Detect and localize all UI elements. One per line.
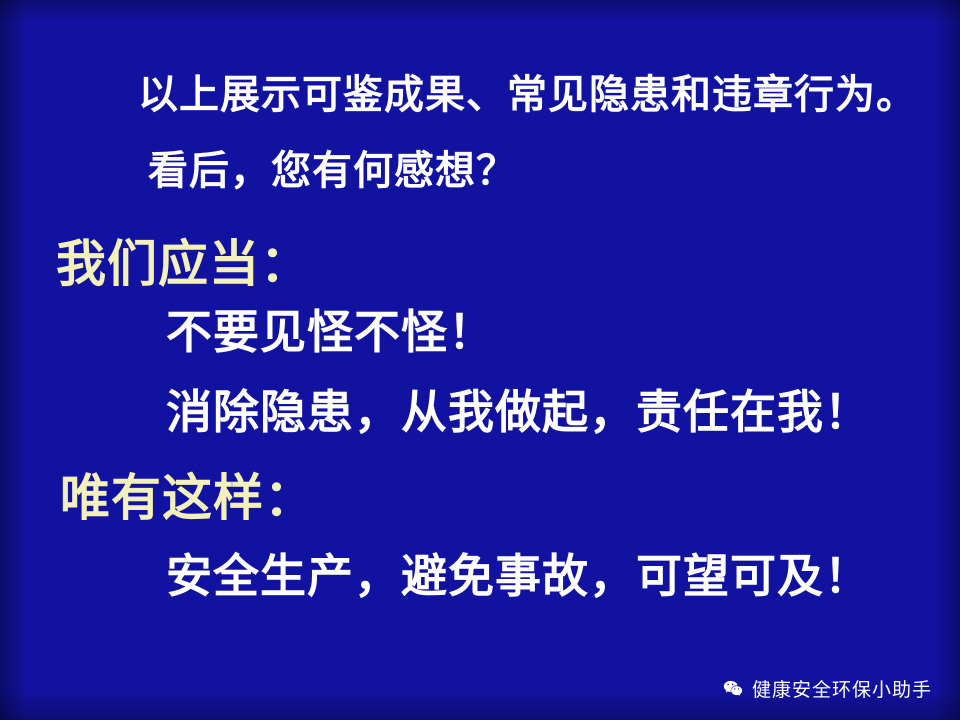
- body-line-1: 不要见怪不怪！: [166, 296, 495, 362]
- intro-line-1: 以上展示可鉴成果、常见隐患和违章行为。: [138, 62, 917, 120]
- heading-only-this-way: 唯有这样：: [60, 458, 315, 530]
- heading-we-should: 我们应当：: [56, 224, 311, 296]
- body-line-3: 安全生产，避免事故，可望可及！: [166, 540, 871, 606]
- watermark: 健康安全环保小助手: [722, 675, 932, 702]
- wechat-icon: [722, 678, 744, 700]
- body-line-2: 消除隐患，从我做起，责任在我！: [166, 376, 871, 442]
- intro-line-2: 看后，您有何感想？: [148, 138, 517, 196]
- slide-canvas: 以上展示可鉴成果、常见隐患和违章行为。 看后，您有何感想？ 我们应当： 不要见怪…: [0, 0, 960, 720]
- watermark-label: 健康安全环保小助手: [752, 675, 932, 702]
